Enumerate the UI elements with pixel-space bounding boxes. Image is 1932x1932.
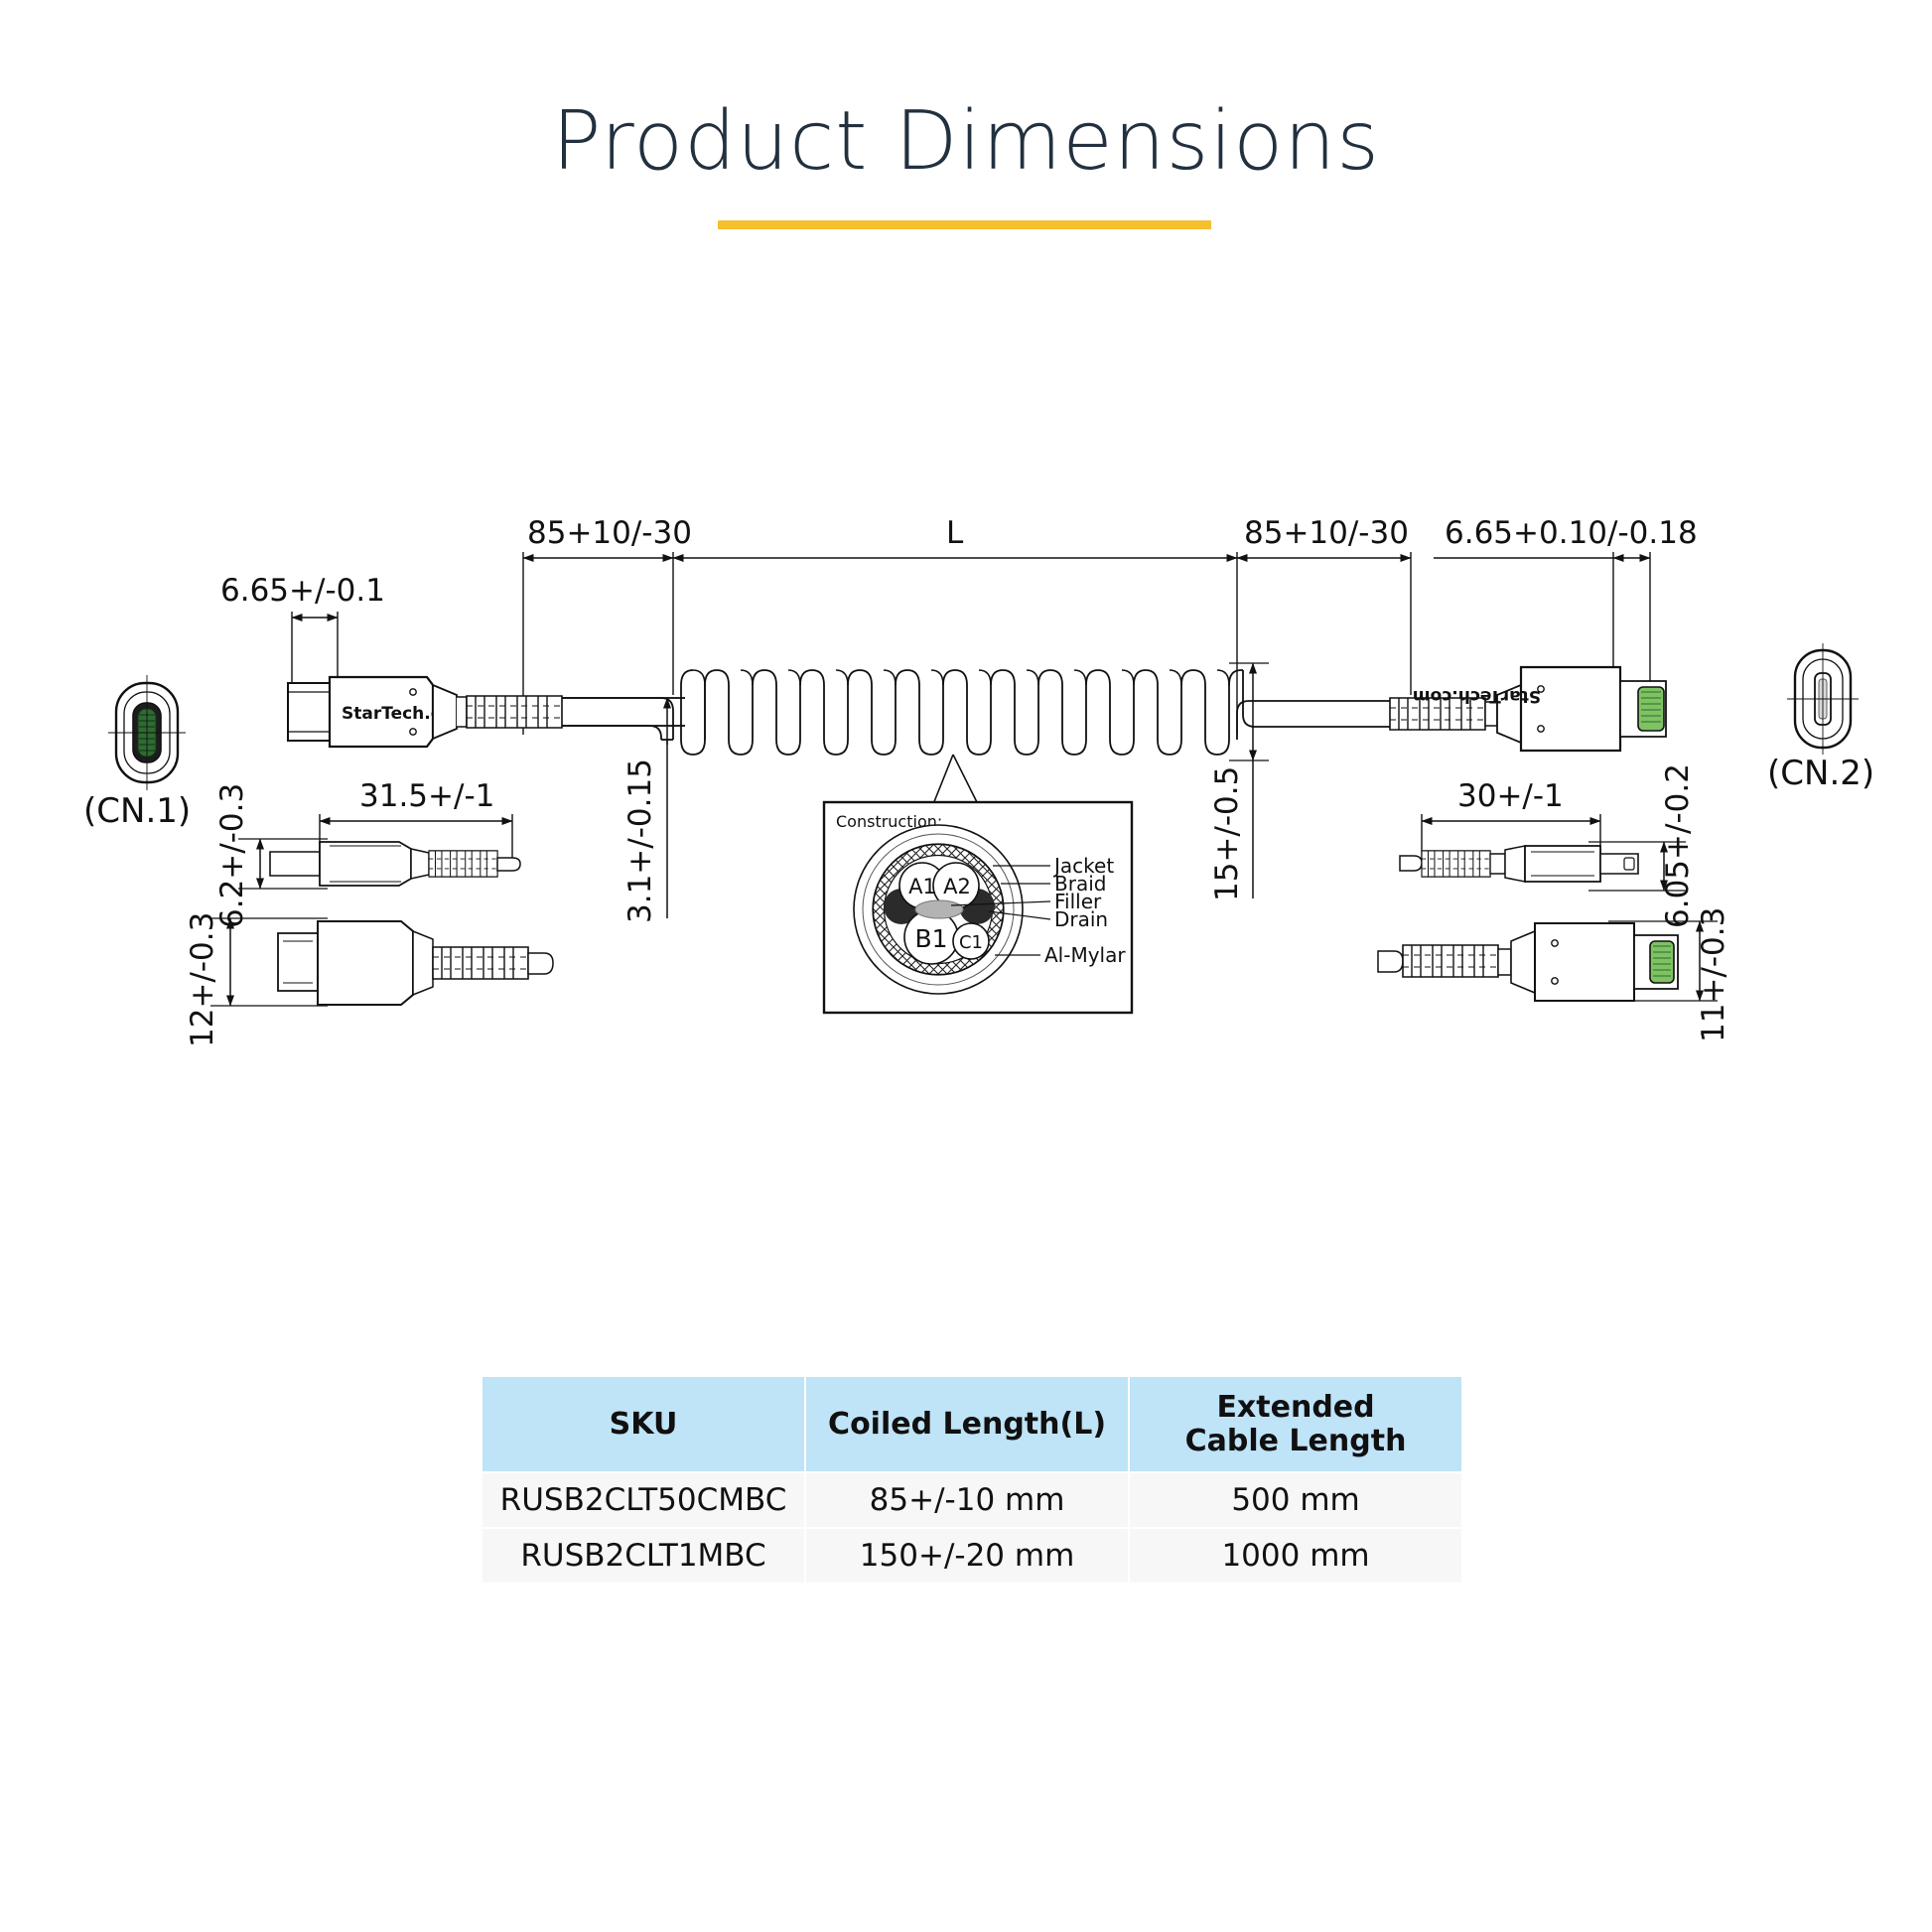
table-header-sku: SKU [482,1376,805,1472]
cell-extended-length: 500 mm [1129,1472,1462,1528]
dim-cn2-body-height-top: 6.05+/-0.2 [1660,763,1696,928]
table-header-extended-cable-length: Extended Cable Length [1129,1376,1462,1472]
dim-cn2-body-height-side: 11+/-0.3 [1696,907,1731,1042]
layer-label-drain: Drain [1054,907,1108,931]
table-header-coiled-length: Coiled Length(L) [805,1376,1129,1472]
dim-cn1-body-height-top: 6.2+/-0.3 [214,783,250,928]
cn2-connector-top-view: StarTech.com [1390,667,1666,751]
conductor-label-a1: A1 [908,875,936,898]
dim-cn1-body-height-side: 12+/-0.3 [185,912,220,1047]
construction-detail-box: Construction: A1 A2 B1 C1 [824,802,1132,1013]
cn1-profile-side-view: 12+/-0.3 [185,912,553,1047]
product-dimension-drawing: 85+10/-30 L 85+10/-30 6.65+0.10/-0.18 6.… [0,0,1932,1932]
conductor-label-c1: C1 [959,932,983,953]
table-row: RUSB2CLT50CMBC 85+/-10 mm 500 mm [482,1472,1462,1528]
cn1-end-view-usb-c [108,675,186,790]
dim-cn1-width: 6.65+/-0.1 [220,573,385,609]
cell-coiled-length: 150+/-20 mm [805,1528,1129,1584]
dimension-table: SKU Coiled Length(L) Extended Cable Leng… [481,1375,1463,1585]
table-header-row: SKU Coiled Length(L) Extended Cable Leng… [482,1376,1462,1472]
brand-label-cn2: StarTech.com [1413,686,1541,706]
cn1-profile-top-view: 31.5+/-1 6.2+/-0.3 [214,778,520,928]
cn2-end-view-lightning [1787,643,1859,755]
cell-sku: RUSB2CLT50CMBC [482,1472,805,1528]
cell-coiled-length: 85+/-10 mm [805,1472,1129,1528]
cn2-profile-top-view: 30+/-1 6.05+/-0.2 [1400,763,1696,928]
dim-coil-outer-diameter: 15+/-0.5 [1209,766,1245,901]
table-row: RUSB2CLT1MBC 150+/-20 mm 1000 mm [482,1528,1462,1584]
conductor-label-a2: A2 [943,875,971,898]
layer-label-al-mylar: Al-Mylar [1044,943,1126,967]
dim-right-straight-section: 85+10/-30 [1244,515,1409,551]
dim-cn2-width: 6.65+0.10/-0.18 [1445,515,1698,551]
dim-left-straight-section: 85+10/-30 [527,515,692,551]
dim-cn1-body-length: 31.5+/-1 [359,778,494,814]
dim-coil-length-L: L [946,515,964,551]
coiled-cable [562,670,1390,755]
cell-sku: RUSB2CLT1MBC [482,1528,805,1584]
dim-cable-diameter: 3.1+/-0.15 [622,759,658,923]
cell-extended-length: 1000 mm [1129,1528,1462,1584]
label-cn2: (CN.2) [1767,754,1874,793]
construction-callout-leader [933,755,978,804]
conductor-label-b1: B1 [914,924,947,953]
label-cn1: (CN.1) [83,791,191,831]
dim-cn2-body-length: 30+/-1 [1457,778,1564,814]
